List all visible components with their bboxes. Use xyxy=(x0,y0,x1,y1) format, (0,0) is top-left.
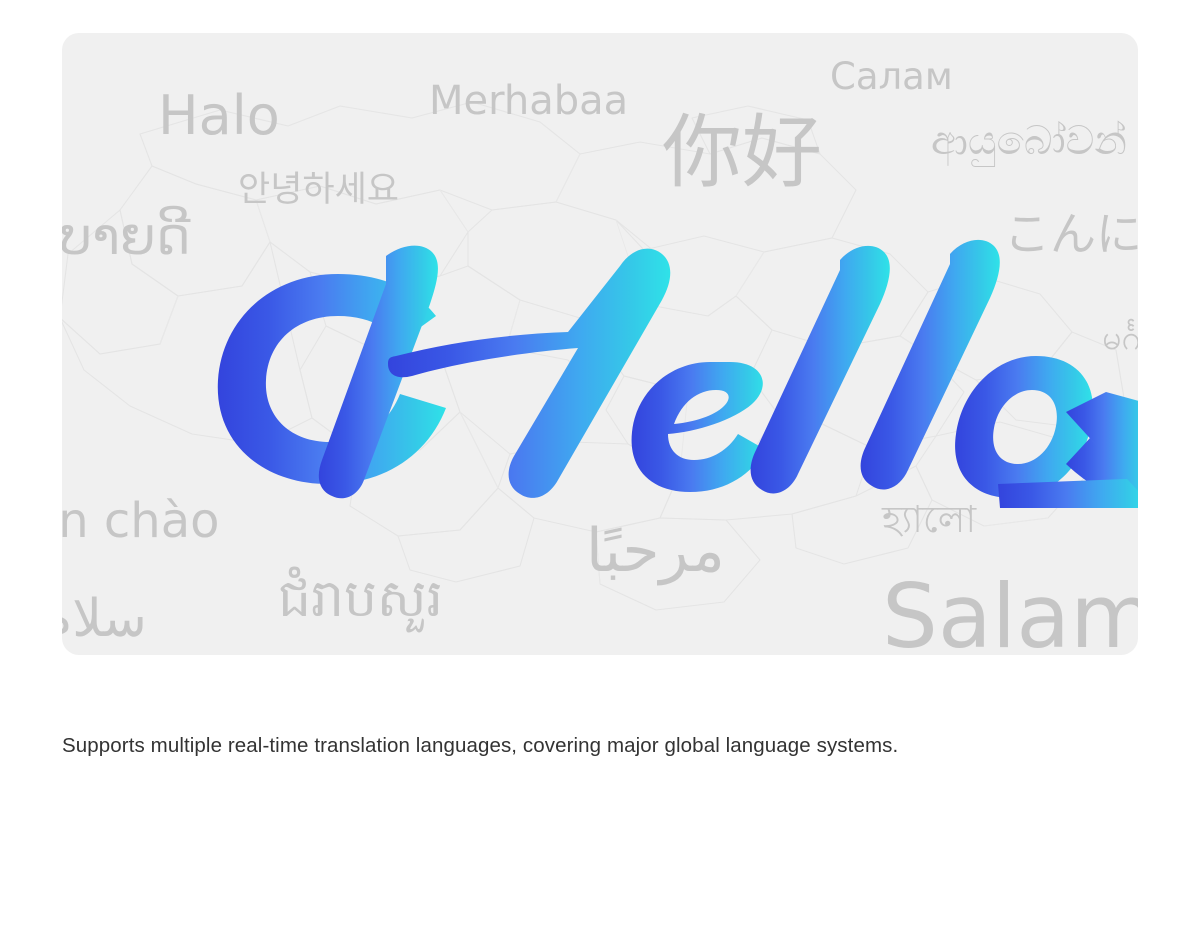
greeting-word: Merhabaa xyxy=(429,81,628,121)
hello-wordmark xyxy=(150,208,1138,508)
greeting-word: Салам xyxy=(830,58,953,95)
greeting-word: 안녕하세요 xyxy=(238,173,399,208)
translation-languages-card: Halo Merhabaa Салам 안녕하세요 你好 ආයුබෝවන් ສະ… xyxy=(62,33,1138,655)
greeting-word: مرحبًا xyxy=(586,521,725,581)
greeting-word: Salam xyxy=(882,573,1138,655)
card-caption: Supports multiple real-time translation … xyxy=(62,731,1142,761)
greeting-word: ආයුබෝවන් xyxy=(931,121,1127,161)
greeting-word: سلام xyxy=(62,593,147,645)
greeting-word: Halo xyxy=(158,89,280,143)
greeting-word: 你好 xyxy=(662,113,822,193)
greeting-word: ជំរាបសួរ xyxy=(278,573,443,625)
